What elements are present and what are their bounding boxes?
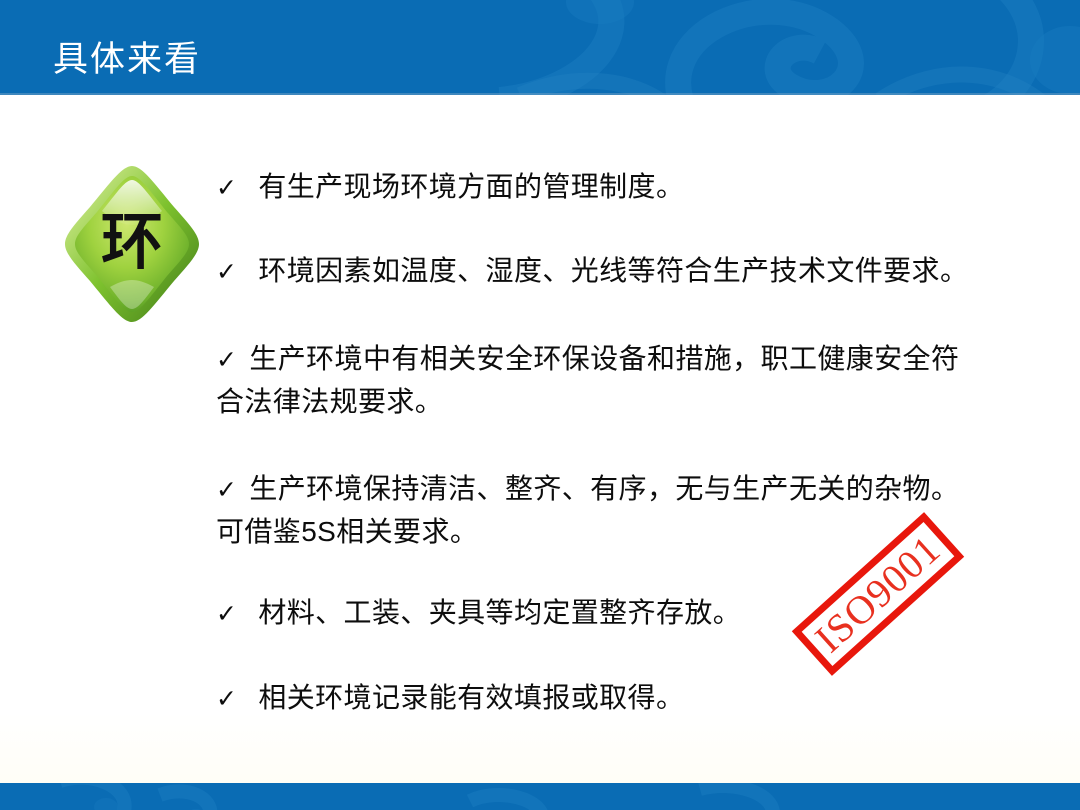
check-icon: ✓ [216, 168, 237, 209]
bullet-text-continued: 合法律法规要求。 [216, 381, 1028, 422]
check-icon: ✓ [216, 470, 237, 511]
bullet-spacer [216, 422, 1028, 468]
bullet-item: ✓有生产现场环境方面的管理制度。 [216, 166, 1028, 209]
header-underline [0, 93, 1080, 95]
slide-header: 具体来看 [0, 0, 1080, 95]
bullet-text: 材料、工装、夹具等均定置整齐存放。 [258, 597, 741, 628]
bullet-spacer [216, 209, 1028, 250]
footer-swirl-decoration [0, 783, 1080, 810]
slide-footer [0, 783, 1080, 810]
bullet-spacer [216, 293, 1028, 338]
page-title: 具体来看 [53, 38, 201, 82]
bullet-item: ✓生产环境中有相关安全环保设备和措施，职工健康安全符 合法律法规要求。 [216, 338, 1028, 422]
bullet-item: ✓生产环境保持清洁、整齐、有序，无与生产无关的杂物。 可借鉴5S相关要求。 [216, 468, 1028, 552]
check-icon: ✓ [216, 594, 237, 635]
bullet-text: 相关环境记录能有效填报或取得。 [258, 682, 684, 713]
bullet-item: ✓材料、工装、夹具等均定置整齐存放。 [216, 592, 1028, 635]
check-icon: ✓ [216, 252, 237, 293]
check-icon: ✓ [216, 679, 237, 720]
badge-character: 环 [101, 208, 163, 277]
bullet-spacer [216, 635, 1028, 677]
green-diamond-badge: 环 [62, 163, 202, 325]
bullet-text: 生产环境保持清洁、整齐、有序，无与生产无关的杂物。 [249, 473, 959, 504]
bullet-text: 生产环境中有相关安全环保设备和措施，职工健康安全符 [249, 343, 959, 374]
slide: 具体来看 [0, 0, 1080, 810]
check-icon: ✓ [216, 340, 237, 381]
bullet-spacer [216, 552, 1028, 592]
bullet-text-continued: 可借鉴5S相关要求。 [216, 511, 1028, 552]
bullet-item: ✓环境因素如温度、湿度、光线等符合生产技术文件要求。 [216, 250, 1028, 293]
bullet-text: 环境因素如温度、湿度、光线等符合生产技术文件要求。 [258, 255, 968, 286]
bullet-text: 有生产现场环境方面的管理制度。 [258, 171, 684, 202]
bullet-item: ✓相关环境记录能有效填报或取得。 [216, 677, 1028, 720]
bullet-list: ✓有生产现场环境方面的管理制度。 ✓环境因素如温度、湿度、光线等符合生产技术文件… [216, 166, 1028, 720]
